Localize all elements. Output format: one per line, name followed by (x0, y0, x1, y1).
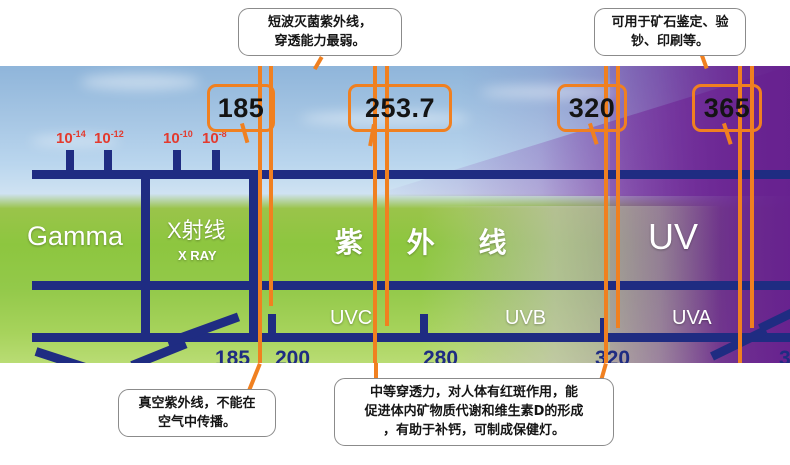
note-text: 真空紫外线，不能在 空气中传播。 (138, 396, 255, 430)
cloud-decoration (80, 74, 200, 90)
marker-value: 185 (218, 93, 265, 124)
wavelength-tick-label: 3 (779, 347, 790, 363)
band-label-gamma: Gamma (27, 221, 123, 252)
frequency-exponent-label: 10-12 (94, 129, 124, 147)
band-label-uv-chinese: 紫 外 线 (335, 221, 525, 261)
note-uvc: 短波灭菌紫外线， 穿透能力最弱。 (238, 8, 402, 56)
frequency-tick (104, 150, 112, 172)
marker-value: 253.7 (365, 93, 435, 124)
note-text: 可用于矿石鉴定、验 钞、印刷等。 (611, 15, 728, 49)
frequency-tick (212, 150, 220, 172)
band-label-uv: UV (648, 216, 698, 258)
band-separator-xray-uv (249, 170, 258, 342)
frequency-exponent-label: 10-14 (56, 129, 86, 147)
uv-subband-label-uva: UVA (672, 307, 712, 330)
marker-value-box-253[interactable]: 253.7 (348, 84, 452, 132)
exponent-base: 10 (56, 130, 73, 147)
frequency-tick (66, 150, 74, 172)
wavelength-tick-label: 320 (595, 347, 630, 363)
frequency-exponent-label: 10-10 (163, 129, 193, 147)
uv-subband-tick (420, 314, 428, 334)
note-vacuum-uv: 真空紫外线，不能在 空气中传播。 (118, 389, 276, 437)
band-label-xray-sub: X RAY (178, 248, 217, 263)
marker-value-box-365[interactable]: 365 (692, 84, 762, 132)
exponent-base: 10 (163, 130, 180, 147)
band-label-xray: X射线 (167, 213, 226, 245)
axis-dash-segment (35, 347, 104, 363)
exponent-base: 10 (94, 130, 111, 147)
exponent-power: -12 (111, 129, 124, 139)
wavelength-tick-label: 280 (423, 347, 458, 363)
exponent-power: -10 (180, 129, 193, 139)
exponent-power: -14 (73, 129, 86, 139)
note-text: 中等穿透力，对人体有红斑作用，能 促进体内矿物质代谢和维生素D的形成 ，有助于补… (365, 385, 584, 438)
marker-value: 320 (569, 93, 616, 124)
marker-value: 365 (704, 93, 751, 124)
uv-subband-tick (268, 314, 276, 334)
exponent-base: 10 (202, 130, 219, 147)
note-text: 短波灭菌紫外线， 穿透能力最弱。 (268, 15, 372, 49)
wavelength-tick-label: 185 (215, 347, 250, 363)
note-uvb: 中等穿透力，对人体有红斑作用，能 促进体内矿物质代谢和维生素D的形成 ，有助于补… (334, 378, 614, 446)
note-uva: 可用于矿石鉴定、验 钞、印刷等。 (594, 8, 746, 56)
uv-subband-label-uvb: UVB (505, 307, 546, 330)
wavelength-tick-label: 200 (275, 347, 310, 363)
frequency-tick (173, 150, 181, 172)
band-separator-gamma-xray (141, 170, 150, 342)
uv-subband-label-uvc: UVC (330, 307, 372, 330)
